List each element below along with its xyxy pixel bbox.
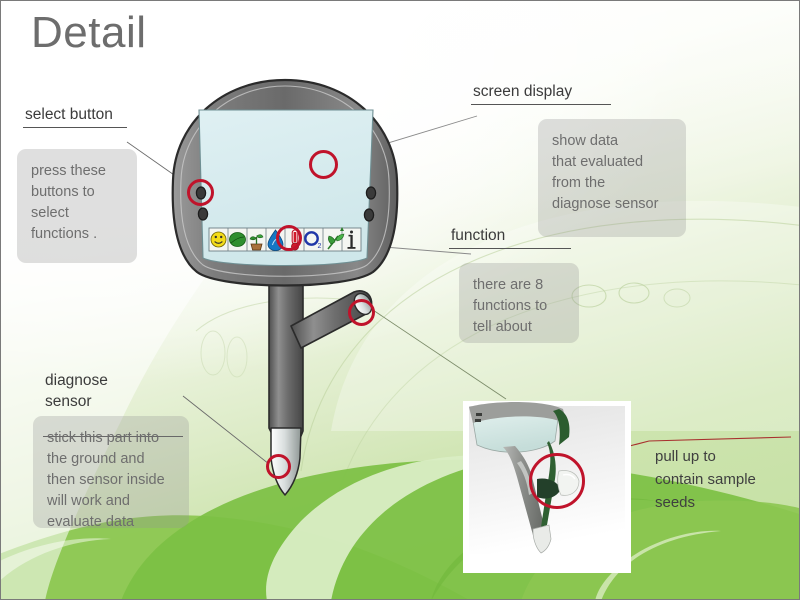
note-diagnose-sensor: stick this part into the ground and then… [33,416,189,528]
callout-label-select-button: select button [23,106,127,128]
page-title: Detail [31,11,147,55]
leaf-icon [230,233,246,247]
select-button-left-bottom [198,208,207,220]
scoop-marker-circle [529,453,585,509]
note-select-button: press these buttons to select functions … [17,149,137,263]
sensor-tip-marker-circle [266,454,291,479]
inset-photo-frame [463,401,631,573]
screen-marker-circle [309,150,338,179]
note-function: there are 8 functions to tell about [459,263,579,343]
svg-text:2: 2 [318,243,322,250]
function-icon-marker-circle [276,225,302,251]
callout-label-screen-display: screen display [471,83,611,105]
label-rule [449,248,571,249]
select-button-right-top [366,187,375,199]
slide-detail: 2 [0,0,800,600]
sample-arm-marker-circle [348,299,375,326]
note-sample-seeds: pull up to contain sample seeds [655,445,795,514]
smiley-face-icon [211,232,226,247]
select-button-marker-circle [187,179,214,206]
select-button-right-bottom [364,209,373,221]
note-screen-display: show data that evaluated from the diagno… [538,119,686,237]
label-rule [471,104,611,105]
label-rule [23,127,127,128]
device-illustration: 2 [151,76,431,506]
